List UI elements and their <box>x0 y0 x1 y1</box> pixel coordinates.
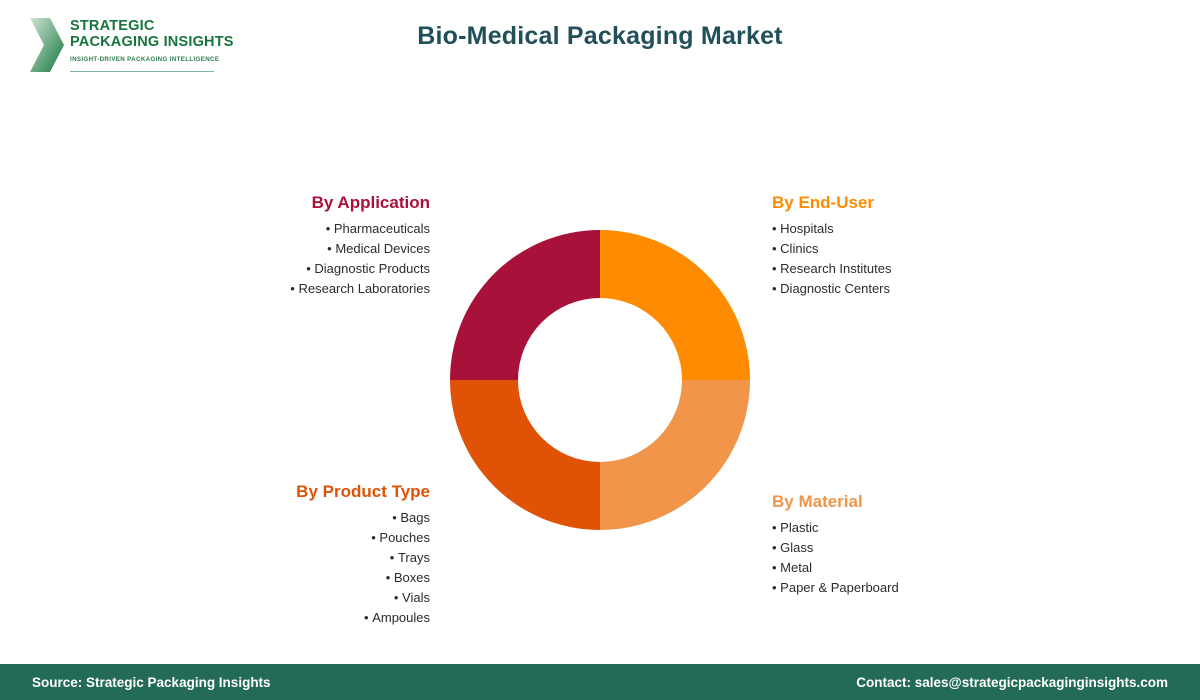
donut-chart-svg <box>450 230 750 530</box>
donut-segment-application[interactable] <box>450 230 600 380</box>
category-list-end-user: Hospitals Clinics Research Institutes Di… <box>772 219 1102 299</box>
list-item: Diagnostic Products <box>130 259 430 279</box>
category-block-material: By Material Plastic Glass Metal Paper & … <box>772 492 1102 598</box>
list-item: Research Laboratories <box>130 279 430 299</box>
list-item: Diagnostic Centers <box>772 279 1102 299</box>
footer-contact[interactable]: Contact: sales@strategicpackaginginsight… <box>856 675 1168 690</box>
list-item: Metal <box>772 558 1102 578</box>
list-item: Medical Devices <box>130 239 430 259</box>
donut-segment-product-type[interactable] <box>450 380 600 530</box>
donut-segment-material[interactable] <box>600 380 750 530</box>
list-item: Trays <box>130 548 430 568</box>
logo-tagline: INSIGHT-DRIVEN PACKAGING INTELLIGENCE <box>70 56 230 63</box>
list-item: Paper & Paperboard <box>772 578 1102 598</box>
list-item: Pharmaceuticals <box>130 219 430 239</box>
list-item: Ampoules <box>130 608 430 628</box>
list-item: Vials <box>130 588 430 608</box>
list-item: Hospitals <box>772 219 1102 239</box>
logo-divider <box>70 71 214 72</box>
category-title-material: By Material <box>772 492 1102 512</box>
footer-source: Source: Strategic Packaging Insights <box>32 675 271 690</box>
list-item: Plastic <box>772 518 1102 538</box>
category-title-product-type: By Product Type <box>130 482 430 502</box>
list-item: Pouches <box>130 528 430 548</box>
category-list-application: Pharmaceuticals Medical Devices Diagnost… <box>130 219 430 299</box>
list-item: Clinics <box>772 239 1102 259</box>
category-title-application: By Application <box>130 193 430 213</box>
category-list-product-type: Bags Pouches Trays Boxes Vials Ampoules <box>130 508 430 628</box>
category-list-material: Plastic Glass Metal Paper & Paperboard <box>772 518 1102 598</box>
list-item: Boxes <box>130 568 430 588</box>
list-item: Research Institutes <box>772 259 1102 279</box>
category-block-end-user: By End-User Hospitals Clinics Research I… <box>772 193 1102 299</box>
donut-chart <box>450 230 750 530</box>
list-item: Glass <box>772 538 1102 558</box>
list-item: Bags <box>130 508 430 528</box>
donut-segment-end-user[interactable] <box>600 230 750 380</box>
page-title: Bio-Medical Packaging Market <box>0 22 1200 51</box>
category-block-product-type: By Product Type Bags Pouches Trays Boxes… <box>130 482 430 628</box>
category-title-end-user: By End-User <box>772 193 1102 213</box>
category-block-application: By Application Pharmaceuticals Medical D… <box>130 193 430 299</box>
footer-bar: Source: Strategic Packaging Insights Con… <box>0 664 1200 700</box>
